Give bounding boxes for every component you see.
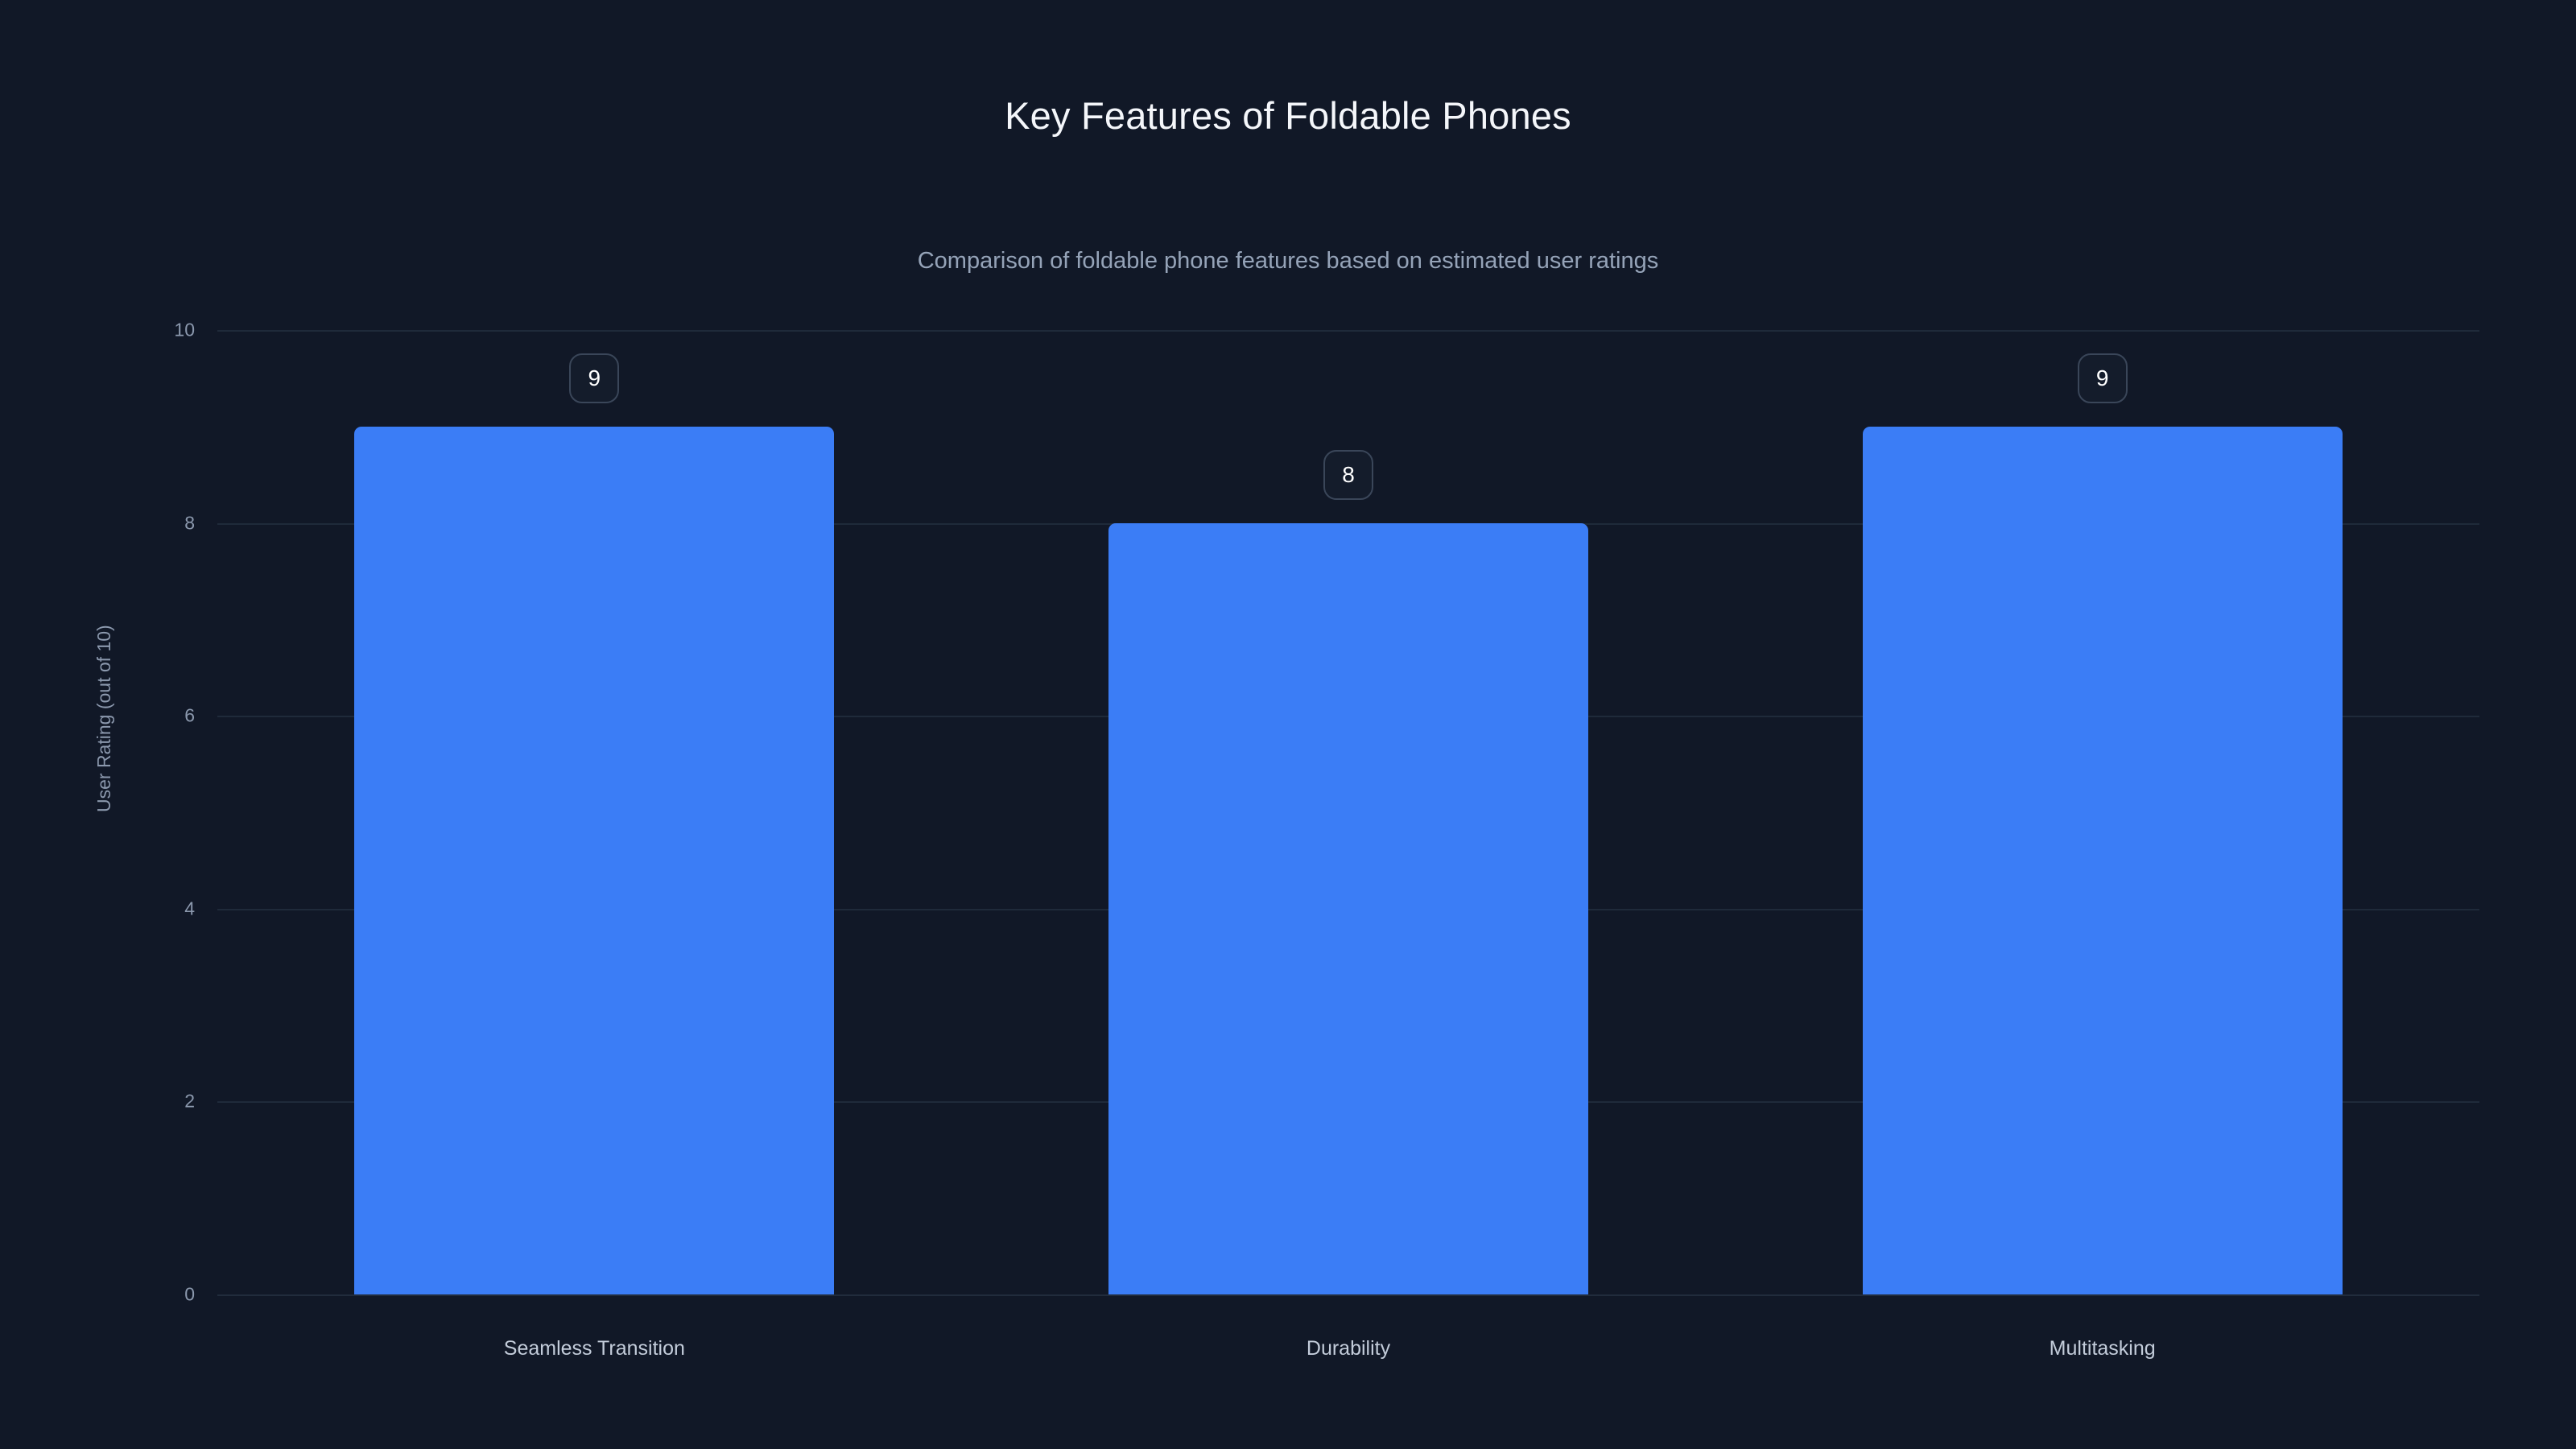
y-axis-tick-label: 10	[145, 321, 195, 340]
x-axis-tick-label: Durability	[1307, 1339, 1390, 1359]
y-axis-tick-label: 6	[145, 707, 195, 725]
y-axis-title: User Rating (out of 10)	[95, 625, 114, 812]
y-axis-tick-label: 4	[145, 899, 195, 918]
bar-value-badge: 9	[569, 353, 619, 403]
y-axis-tick-label: 0	[145, 1286, 195, 1304]
bar[interactable]	[1863, 427, 2343, 1294]
x-axis-tick-label: Multitasking	[2050, 1339, 2156, 1359]
y-axis-tick-label: 2	[145, 1092, 195, 1111]
bar-value-badge: 8	[1323, 450, 1373, 500]
gridline	[217, 330, 2479, 332]
x-axis-tick-label: Seamless Transition	[504, 1339, 685, 1359]
y-axis-tick-label: 8	[145, 514, 195, 532]
chart-subtitle: Comparison of foldable phone features ba…	[0, 247, 2576, 275]
gridline	[217, 1294, 2479, 1296]
bar[interactable]	[1108, 523, 1588, 1294]
chart-title: Key Features of Foldable Phones	[0, 93, 2576, 138]
bar-value-badge: 9	[2078, 353, 2128, 403]
bar[interactable]	[354, 427, 834, 1294]
bar-chart-figure: Key Features of Foldable Phones Comparis…	[0, 0, 2576, 1449]
